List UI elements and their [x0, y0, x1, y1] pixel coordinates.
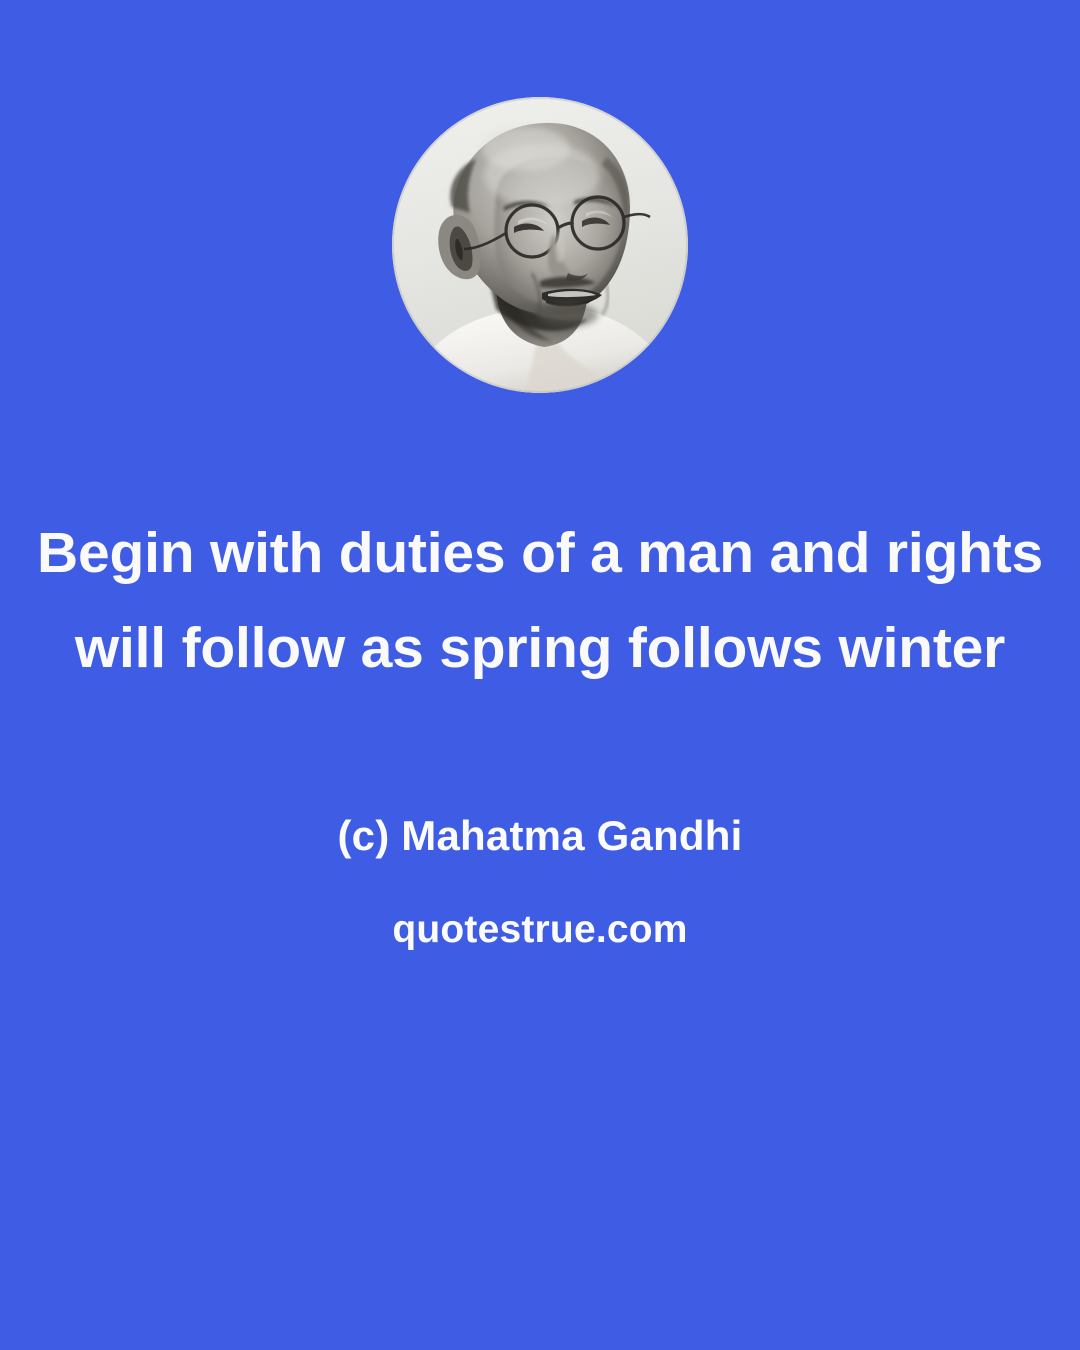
quote-text: Begin with duties of a man and rights wi…: [0, 506, 1080, 696]
quote-card: Begin with duties of a man and rights wi…: [0, 0, 1080, 1350]
quote-line-2: will follow as spring follows winter: [0, 601, 1080, 696]
gandhi-portrait-photo: [392, 97, 688, 393]
quote-attribution: (c) Mahatma Gandhi: [0, 810, 1080, 862]
quote-line-1: Begin with duties of a man and rights: [0, 506, 1080, 601]
source-website: quotestrue.com: [0, 905, 1080, 955]
